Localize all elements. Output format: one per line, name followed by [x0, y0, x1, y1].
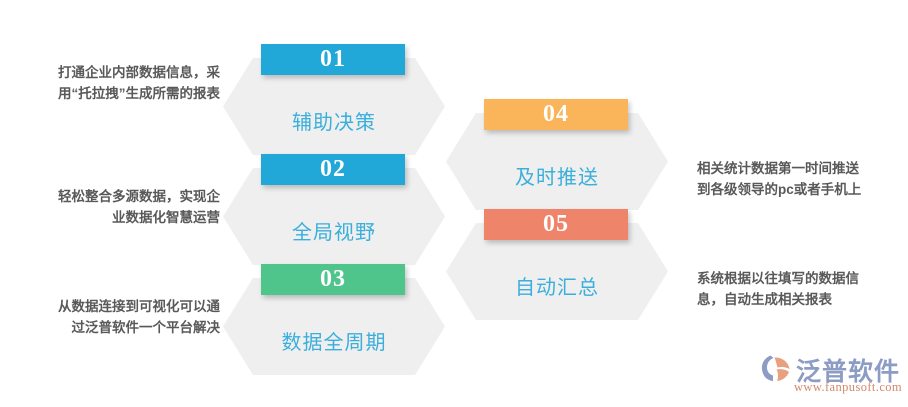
step-title-03: 数据全周期 [223, 326, 445, 355]
company-logo: 泛普软件 www.fanpusoft.com [760, 352, 908, 398]
step-description-02: 轻松整合多源数据，实现企 业数据化智慧运营 [10, 186, 220, 228]
step-number-03: 03 [261, 264, 405, 295]
step-card-03[interactable]: 03 数据全周期 [223, 278, 445, 375]
step-title-05: 自动汇总 [446, 271, 668, 300]
step-card-02[interactable]: 02 全局视野 [223, 168, 445, 265]
step-number-05: 05 [484, 209, 628, 240]
step-description-05: 系统根据以往填写的数据信 息，自动生成相关报表 [697, 268, 908, 310]
step-description-04: 相关统计数据第一时间推送 到各级领导的pc或者手机上 [697, 158, 908, 200]
infographic-canvas: 01 辅助决策 打通企业内部数据信息，采 用“托拉拽”生成所需的报表 02 全局… [0, 0, 908, 407]
step-title-02: 全局视野 [223, 216, 445, 245]
step-title-04: 及时推送 [446, 161, 668, 190]
step-description-03: 从数据连接到可视化可以通 过泛普软件一个平台解决 [10, 296, 220, 338]
step-number-04: 04 [484, 99, 628, 130]
step-card-04[interactable]: 04 及时推送 [446, 113, 668, 210]
logo-website-url: www.fanpusoft.com [794, 380, 902, 395]
step-number-02: 02 [261, 154, 405, 185]
fanpu-arc-logo-icon [760, 354, 794, 382]
step-card-01[interactable]: 01 辅助决策 [223, 58, 445, 155]
step-description-01: 打通企业内部数据信息，采 用“托拉拽”生成所需的报表 [10, 62, 220, 104]
step-card-05[interactable]: 05 自动汇总 [446, 223, 668, 320]
step-number-01: 01 [261, 44, 405, 75]
step-title-01: 辅助决策 [223, 106, 445, 135]
